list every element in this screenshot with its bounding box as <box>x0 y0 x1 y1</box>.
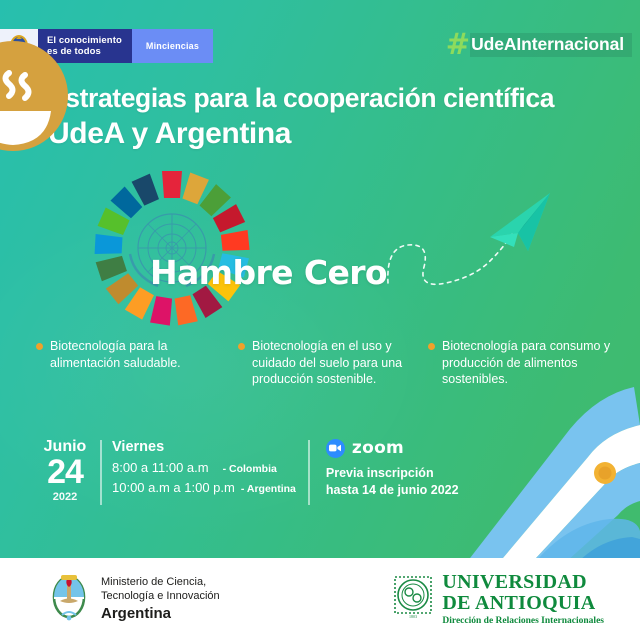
event-info-bar: Junio 24 2022 Viernes 8:00 a 11:00 a.m -… <box>38 438 459 507</box>
footer: Ministerio de Ciencia, Tecnología e Inno… <box>0 558 640 640</box>
sdg-wheel <box>92 168 252 328</box>
hash-symbol-icon: # <box>446 30 470 59</box>
argentina-ministry-logo: Ministerio de Ciencia, Tecnología e Inno… <box>48 571 220 628</box>
zoom-wordmark: zoom <box>352 438 404 458</box>
sdg-label: Hambre Cero <box>150 253 387 292</box>
sdg-color-wheel-icon <box>92 168 252 328</box>
gov-slogan-line1: El conocimiento <box>47 35 122 46</box>
udea-line-2: DE ANTIOQUIA <box>442 593 604 614</box>
gov-ministry-label: Minciencias <box>132 29 213 63</box>
bullet-text: Biotecnología para consumo y producción … <box>442 338 618 388</box>
schedule-time: 8:00 a 11:00 a.m <box>112 458 209 478</box>
schedule-row: 10:00 a.m a 1:00 p.m - Argentina <box>112 478 296 498</box>
schedule-zone: - Argentina <box>241 481 296 497</box>
bullet-dot-icon <box>238 343 245 350</box>
event-day: 24 <box>38 456 92 489</box>
gov-slogan-line2: es de todos <box>47 46 122 57</box>
bullet-dot-icon <box>36 343 43 350</box>
zoom-logo: zoom <box>326 438 459 458</box>
svg-text:1803: 1803 <box>409 614 417 619</box>
title-line-2: UdeA y Argentina <box>48 117 554 151</box>
bullet-list: Biotecnología para la alimentación salud… <box>36 338 622 388</box>
event-schedule: Viernes 8:00 a 11:00 a.m - Colombia 10:0… <box>102 438 308 498</box>
event-year: 2022 <box>38 489 92 507</box>
bullet-dot-icon <box>428 343 435 350</box>
bullet-text: Biotecnología en el uso y cuidado del su… <box>252 338 418 388</box>
event-date: Junio 24 2022 <box>38 438 100 507</box>
list-item: Biotecnología en el uso y cuidado del su… <box>238 338 418 388</box>
zoom-video-camera-icon <box>326 439 345 458</box>
event-weekday: Viernes <box>112 438 296 458</box>
udea-line-1: UNIVERSIDAD <box>442 572 604 593</box>
udea-subtitle: Dirección de Relaciones Internacionales <box>442 616 604 626</box>
hashtag-text: UdeAInternacional <box>471 34 630 55</box>
page-title: Estrategias para la cooperación científi… <box>48 84 554 151</box>
list-item: Biotecnología para consumo y producción … <box>428 338 618 388</box>
udea-seal-icon: 1803 <box>393 575 433 624</box>
udea-logo: 1803 UNIVERSIDAD DE ANTIOQUIA Dirección … <box>393 572 604 627</box>
paper-plane-icon <box>490 193 550 251</box>
list-item: Biotecnología para la alimentación salud… <box>36 338 228 388</box>
title-line-1: Estrategias para la cooperación científi… <box>48 84 554 114</box>
platform-block: zoom Previa inscripción hasta 14 de juni… <box>310 438 459 499</box>
registration-note-line1: Previa inscripción <box>326 465 459 482</box>
paper-plane-decoration <box>380 185 560 315</box>
ministry-line-2: Tecnología e Innovación <box>101 590 220 603</box>
registration-note-line2: hasta 14 de junio 2022 <box>326 482 459 499</box>
schedule-time: 10:00 a.m a 1:00 p.m <box>112 478 235 498</box>
ministry-country: Argentina <box>101 605 220 622</box>
poster-canvas: El conocimiento es de todos Minciencias … <box>0 0 640 640</box>
hashtag-badge: # UdeAInternacional <box>446 29 630 59</box>
bullet-text: Biotecnología para la alimentación salud… <box>50 338 228 388</box>
ministry-line-1: Ministerio de Ciencia, <box>101 576 220 589</box>
schedule-row: 8:00 a 11:00 a.m - Colombia <box>112 458 296 478</box>
schedule-zone: - Colombia <box>223 461 277 477</box>
argentina-coat-of-arms-icon <box>48 571 90 628</box>
